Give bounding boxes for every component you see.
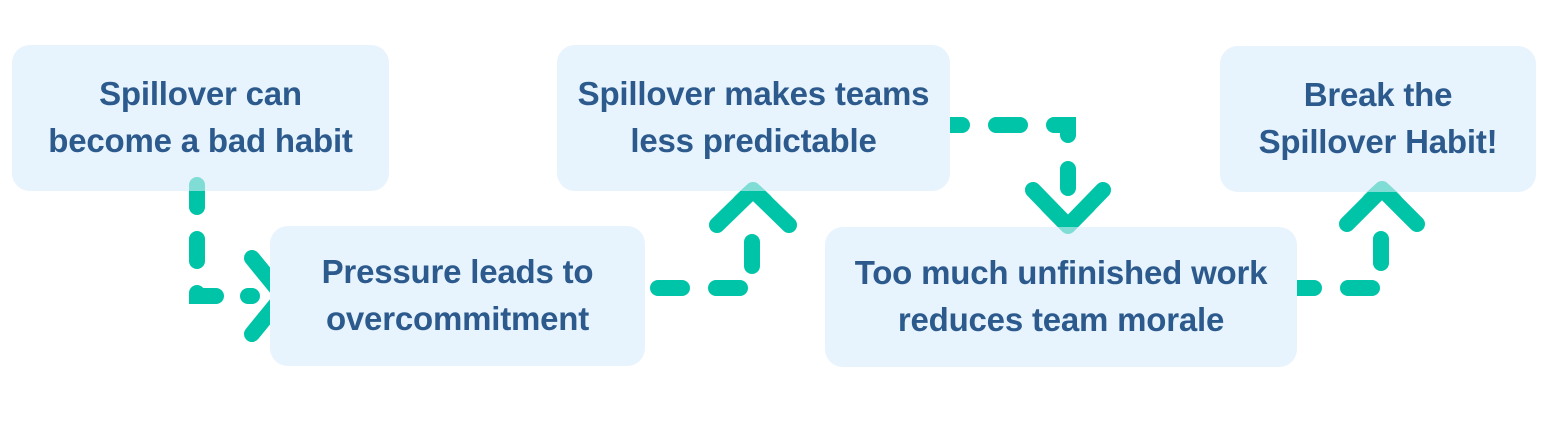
tip-overlap-3 (1048, 206, 1088, 226)
node-label: Too much unfinished work reduces team mo… (839, 250, 1284, 344)
node-label: Spillover can become a bad habit (32, 71, 368, 165)
node-reduces-morale[interactable]: Too much unfinished work reduces team mo… (825, 227, 1297, 367)
node-spillover-bad-habit[interactable]: Spillover can become a bad habit (12, 45, 389, 191)
node-label: Break the Spillover Habit! (1243, 72, 1514, 166)
node-less-predictable[interactable]: Spillover makes teams less predictable (557, 45, 950, 191)
node-label: Pressure leads to overcommitment (306, 249, 610, 343)
node-label: Spillover makes teams less predictable (562, 71, 946, 165)
diagram-canvas: Spillover can become a bad habit Pressur… (0, 0, 1548, 440)
node-pressure-overcommitment[interactable]: Pressure leads to overcommitment (270, 226, 645, 366)
connector-morale-to-break (1290, 189, 1417, 288)
connector-predictable-to-morale (938, 125, 1103, 226)
tip-overlap-2 (741, 190, 765, 201)
node-break-the-habit[interactable]: Break the Spillover Habit! (1220, 46, 1536, 192)
